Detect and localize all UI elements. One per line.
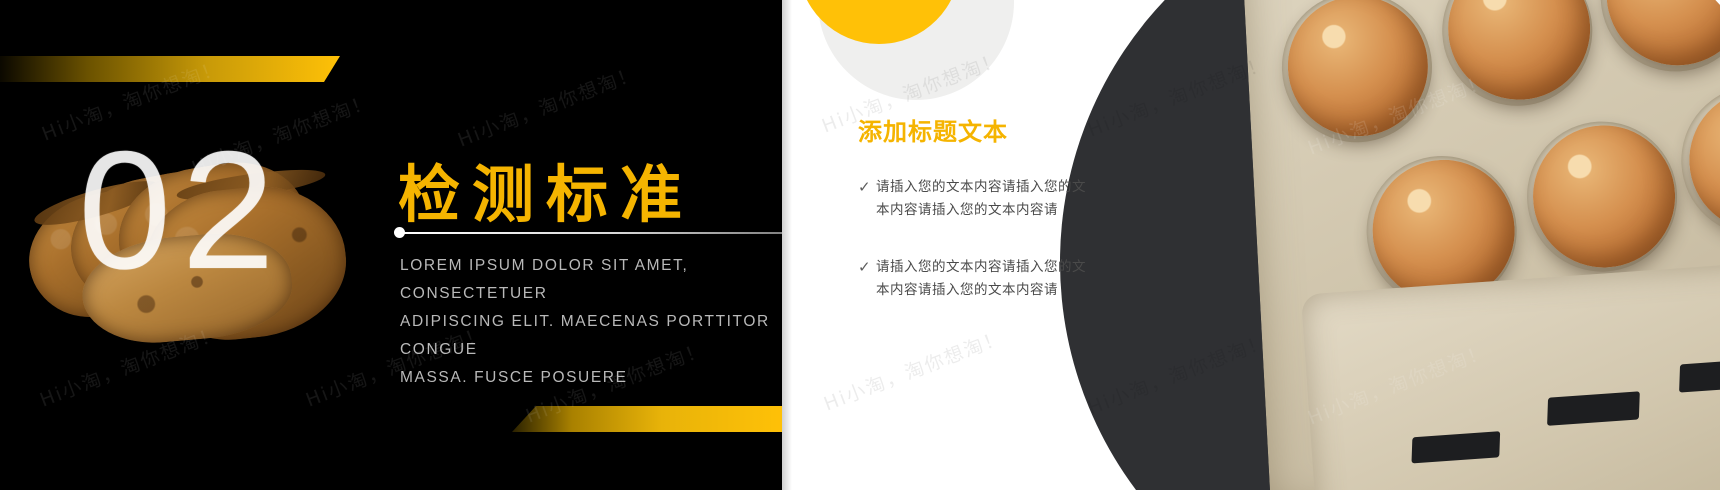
headline-block: 检测标准 [398,164,694,226]
watermark: Hi小淘，淘你想淘！ [454,59,643,153]
right-light-panel: 添加标题文本 ✓ 请插入您的文本内容请插入您的文 本内容请插入您的文本内容请 ✓… [782,0,1720,490]
list-item: ✓ 请插入您的文本内容请插入您的文 本内容请插入您的文本内容请 [858,256,1188,302]
bullet-list: ✓ 请插入您的文本内容请插入您的文 本内容请插入您的文本内容请 ✓ 请插入您的文… [858,176,1188,336]
bottom-accent-bar [512,406,782,432]
egg-carton-lid [1301,262,1720,490]
title-divider [398,232,782,234]
divider-dot-icon [394,227,405,238]
check-icon: ✓ [858,176,876,199]
lorem-line-3: massa. Fusce posuere [400,364,782,392]
list-item-line-1: 请插入您的文本内容请插入您的文 [876,179,1086,195]
list-item-line-2: 本内容请插入您的文本内容请 [876,282,1058,298]
subtitle-paragraph: Lorem ipsum dolor sit amet, consectetuer… [400,252,782,392]
list-item: ✓ 请插入您的文本内容请插入您的文 本内容请插入您的文本内容请 [858,176,1188,222]
right-panel-title: 添加标题文本 [858,112,1008,147]
check-icon: ✓ [858,256,876,279]
list-item-line-2: 本内容请插入您的文本内容请 [876,202,1058,218]
panel-edge-shadow [782,0,792,490]
lorem-line-1: Lorem ipsum dolor sit amet, consectetuer [400,252,782,308]
page-title: 检测标准 [398,164,694,226]
slide-root: 02 检测标准 Lorem ipsum dolor sit amet, cons… [0,0,1720,490]
top-accent-bar [0,56,340,82]
list-item-line-1: 请插入您的文本内容请插入您的文 [876,259,1086,275]
left-dark-panel: 02 检测标准 Lorem ipsum dolor sit amet, cons… [0,0,782,490]
list-item-text: 请插入您的文本内容请插入您的文 本内容请插入您的文本内容请 [876,256,1086,302]
section-number: 02 [78,126,285,294]
list-item-text: 请插入您的文本内容请插入您的文 本内容请插入您的文本内容请 [876,176,1086,222]
lorem-line-2: adipiscing elit. Maecenas porttitor cong… [400,308,782,364]
watermark: Hi小淘，淘你想淘！ [820,323,1009,417]
